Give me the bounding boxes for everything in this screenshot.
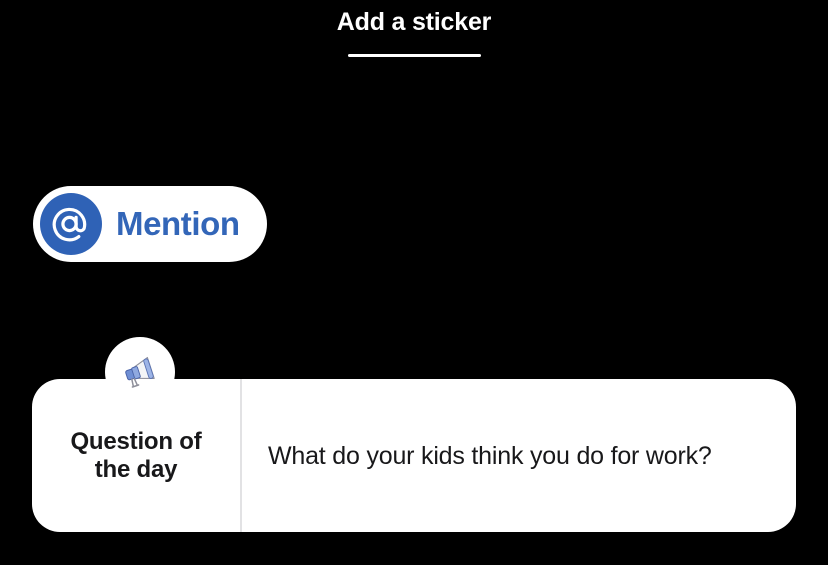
sticker-mention-label: Mention bbox=[116, 205, 240, 243]
sticker-canvas: Mention Question of the day What do your… bbox=[0, 70, 828, 565]
sheet-header: Add a sticker bbox=[0, 0, 828, 70]
sticker-question-of-the-day[interactable]: Question of the day What do your kids th… bbox=[32, 379, 796, 532]
at-sign-icon bbox=[40, 193, 102, 255]
sticker-mention[interactable]: Mention bbox=[33, 186, 267, 262]
qotd-question-text: What do your kids think you do for work? bbox=[268, 441, 712, 471]
page-title: Add a sticker bbox=[0, 7, 828, 37]
qotd-right-panel: What do your kids think you do for work? bbox=[242, 379, 796, 532]
megaphone-icon bbox=[105, 337, 175, 407]
title-underline bbox=[348, 54, 481, 57]
qotd-heading: Question of the day bbox=[70, 428, 201, 484]
sticker-picker-screen: Add a sticker Mention Question of the da… bbox=[0, 0, 828, 565]
